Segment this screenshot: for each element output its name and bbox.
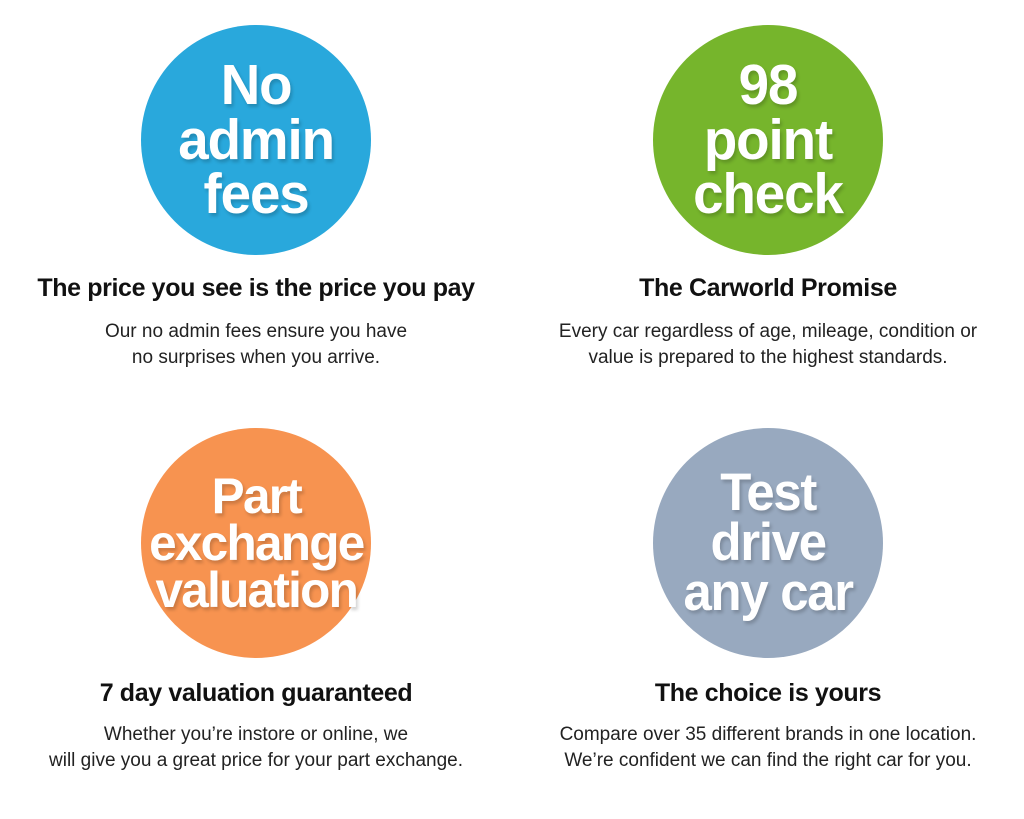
benefit-card-no-admin-fees[interactable]: No admin fees The price you see is the p… [0,0,512,404]
card-body: Every car regardless of age, mileage, co… [526,319,1010,373]
badge-line: Test [683,468,852,518]
badge-line: valuation [149,567,364,614]
badge-line: drive [683,518,852,568]
badge-line: Part [149,473,364,520]
card-body: Our no admin fees ensure you have no sur… [14,319,498,373]
card-body-line: no surprises when you arrive. [14,345,498,372]
card-copy: 7 day valuation guaranteed Whether you’r… [0,658,512,775]
card-body-line: Our no admin fees ensure you have [14,319,498,346]
badge-test-drive-any-car: Test drive any car [653,428,883,658]
badge-line: fees [178,167,334,222]
card-copy: The Carworld Promise Every car regardles… [512,255,1024,372]
badge-line: exchange [149,520,364,567]
card-body: Whether you’re instore or online, we wil… [14,722,498,776]
badge-text-no-admin-fees: No admin fees [178,58,334,222]
card-copy: The choice is yours Compare over 35 diff… [512,658,1024,775]
badge-no-admin-fees: No admin fees [141,25,371,255]
badge-line: any car [683,568,852,618]
badge-text-part-exchange-valuation: Part exchange valuation [149,473,364,614]
card-body-line: We’re confident we can find the right ca… [526,748,1010,775]
card-body: Compare over 35 different brands in one … [526,722,1010,776]
card-body-line: value is prepared to the highest standar… [526,345,1010,372]
card-copy: The price you see is the price you pay O… [0,255,512,372]
card-body-line: Whether you’re instore or online, we [14,722,498,749]
card-body-line: will give you a great price for your par… [14,748,498,775]
benefit-card-test-drive-any-car[interactable]: Test drive any car The choice is yours C… [512,404,1024,784]
card-heading: The choice is yours [526,680,1010,708]
badge-line: 98 [693,58,843,113]
badge-text-98-point-check: 98 point check [693,58,843,222]
benefits-grid: No admin fees The price you see is the p… [0,0,1024,819]
card-heading: The price you see is the price you pay [14,275,498,303]
badge-text-test-drive-any-car: Test drive any car [683,468,852,617]
badge-98-point-check: 98 point check [653,25,883,255]
benefit-card-part-exchange-valuation[interactable]: Part exchange valuation 7 day valuation … [0,404,512,784]
badge-line: No [178,58,334,113]
card-body-line: Compare over 35 different brands in one … [526,722,1010,749]
card-heading: The Carworld Promise [526,275,1010,303]
card-body-line: Every car regardless of age, mileage, co… [526,319,1010,346]
card-heading: 7 day valuation guaranteed [14,680,498,708]
benefit-card-98-point-check[interactable]: 98 point check The Carworld Promise Ever… [512,0,1024,404]
badge-line: check [693,167,843,222]
badge-line: admin [178,113,334,168]
badge-line: point [693,113,843,168]
badge-part-exchange-valuation: Part exchange valuation [141,428,371,658]
